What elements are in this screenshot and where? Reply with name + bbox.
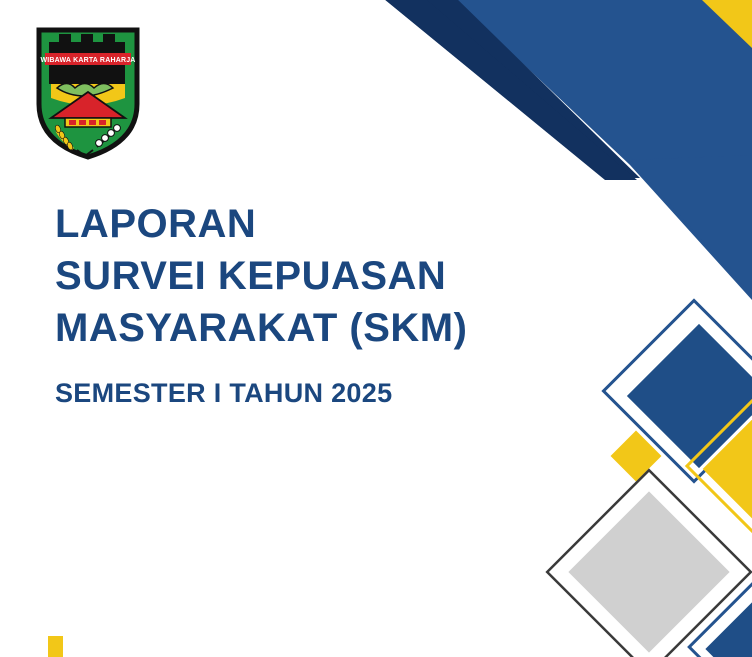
- diamond-corner-blue-outline-shape: [689, 569, 752, 657]
- diamond-outline-gray-shape: [547, 470, 751, 657]
- regency-emblem-icon: WIBAWA KARTA RAHARJA: [33, 26, 143, 161]
- title-line-3: MASYARAKAT (SKM): [55, 302, 655, 354]
- regency-emblem: WIBAWA KARTA RAHARJA: [33, 26, 143, 161]
- window-2-shape: [79, 120, 86, 125]
- cover-title-block: LAPORAN SURVEI KEPUASAN MASYARAKAT (SKM)…: [55, 198, 655, 410]
- band-dark-blue-shape: [378, 0, 640, 178]
- diamond-corner-blue-shape: [705, 585, 752, 657]
- diamond-solid-gray-shape: [568, 491, 729, 652]
- title-line-2: SURVEI KEPUASAN: [55, 250, 655, 302]
- report-cover-page: WIBAWA KARTA RAHARJA: [0, 0, 752, 657]
- diamond-solid-yellow-shape: [703, 417, 752, 522]
- window-4-shape: [99, 120, 106, 125]
- motto-text: WIBAWA KARTA RAHARJA: [40, 57, 135, 64]
- band-dark-blue-front-shape: [378, 0, 637, 180]
- window-1-shape: [69, 120, 76, 125]
- window-3-shape: [89, 120, 96, 125]
- diamond-outline-yellow-shape: [687, 401, 752, 531]
- title-line-1: LAPORAN: [55, 198, 655, 250]
- corner-triangle-yellow-shape: [702, 0, 752, 48]
- accent-square-yellow: [48, 636, 63, 657]
- cover-subtitle: SEMESTER I TAHUN 2025: [55, 376, 655, 410]
- diamond-small-yellow-shape: [611, 431, 662, 482]
